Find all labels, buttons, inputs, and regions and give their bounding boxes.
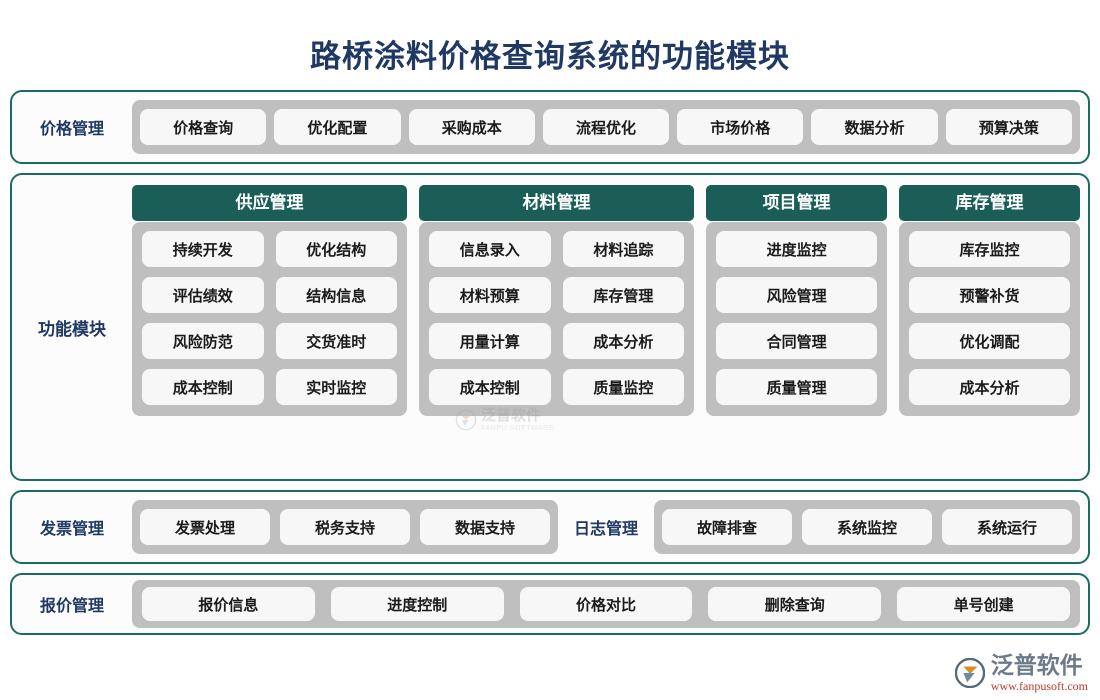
module-chip-c1-1[interactable]: 持续开发: [142, 231, 264, 267]
quote-chip-3[interactable]: 价格对比: [520, 587, 693, 621]
price-chip-2[interactable]: 优化配置: [274, 109, 400, 145]
module-chip-c3-4[interactable]: 质量管理: [716, 369, 877, 405]
module-column-body-3: 进度监控风险管理合同管理质量管理: [706, 222, 887, 416]
module-chip-c2-1[interactable]: 信息录入: [429, 231, 551, 267]
module-chip-c2-7[interactable]: 成本控制: [429, 369, 551, 405]
price-management-label: 价格管理: [12, 115, 132, 139]
module-column-header-1[interactable]: 供应管理: [132, 185, 407, 221]
log-chip-3[interactable]: 系统运行: [942, 509, 1072, 545]
module-column-2: 材料管理信息录入材料追踪材料预算库存管理用量计算成本分析成本控制质量监控: [419, 185, 694, 416]
price-chip-5[interactable]: 市场价格: [677, 109, 803, 145]
corner-watermark-url: www.fanpusoft.com: [991, 680, 1088, 692]
module-column-4: 库存管理库存监控预警补货优化调配成本分析: [899, 185, 1080, 416]
module-chip-c1-2[interactable]: 优化结构: [276, 231, 398, 267]
corner-watermark-brand: 泛普软件: [991, 654, 1088, 677]
module-chip-c4-1[interactable]: 库存监控: [909, 231, 1070, 267]
page-title: 路桥涂料价格查询系统的功能模块: [10, 0, 1090, 90]
module-chip-c4-3[interactable]: 优化调配: [909, 323, 1070, 359]
module-column-1: 供应管理持续开发优化结构评估绩效结构信息风险防范交货准时成本控制实时监控: [132, 185, 407, 416]
module-chip-c2-2[interactable]: 材料追踪: [563, 231, 685, 267]
fanpu-logo-corner-icon: [955, 658, 985, 688]
log-management-label: 日志管理: [558, 515, 654, 539]
module-chip-c2-5[interactable]: 用量计算: [429, 323, 551, 359]
module-chip-c1-6[interactable]: 交货准时: [276, 323, 398, 359]
module-column-header-2[interactable]: 材料管理: [419, 185, 694, 221]
module-chip-c2-6[interactable]: 成本分析: [563, 323, 685, 359]
quote-chip-5[interactable]: 单号创建: [897, 587, 1070, 621]
invoice-tray: 发票处理税务支持数据支持: [132, 500, 558, 554]
price-management-band: 价格管理 价格查询优化配置采购成本流程优化市场价格数据分析预算决策: [10, 90, 1090, 164]
log-chip-2[interactable]: 系统监控: [802, 509, 932, 545]
price-chip-1[interactable]: 价格查询: [140, 109, 266, 145]
module-chip-c3-2[interactable]: 风险管理: [716, 277, 877, 313]
price-management-tray: 价格查询优化配置采购成本流程优化市场价格数据分析预算决策: [132, 100, 1080, 154]
price-chip-3[interactable]: 采购成本: [409, 109, 535, 145]
module-column-body-1: 持续开发优化结构评估绩效结构信息风险防范交货准时成本控制实时监控: [132, 222, 407, 416]
module-columns: 供应管理持续开发优化结构评估绩效结构信息风险防范交货准时成本控制实时监控材料管理…: [132, 185, 1080, 469]
corner-watermark: 泛普软件 www.fanpusoft.com: [955, 654, 1088, 692]
quote-chip-1[interactable]: 报价信息: [142, 587, 315, 621]
module-chip-c2-4[interactable]: 库存管理: [563, 277, 685, 313]
module-column-header-3[interactable]: 项目管理: [706, 185, 887, 221]
invoice-log-band: 发票管理 发票处理税务支持数据支持 日志管理 故障排查系统监控系统运行: [10, 490, 1090, 564]
invoice-chip-2[interactable]: 税务支持: [280, 509, 410, 545]
module-chip-c2-8[interactable]: 质量监控: [563, 369, 685, 405]
price-chip-7[interactable]: 预算决策: [946, 109, 1072, 145]
quote-management-band: 报价管理 报价信息进度控制价格对比删除查询单号创建: [10, 573, 1090, 635]
invoice-chip-3[interactable]: 数据支持: [420, 509, 550, 545]
price-chip-6[interactable]: 数据分析: [811, 109, 937, 145]
invoice-management-label: 发票管理: [12, 515, 132, 539]
module-column-header-4[interactable]: 库存管理: [899, 185, 1080, 221]
module-chip-c1-5[interactable]: 风险防范: [142, 323, 264, 359]
function-module-label: 功能模块: [12, 315, 132, 340]
module-column-body-2: 信息录入材料追踪材料预算库存管理用量计算成本分析成本控制质量监控: [419, 222, 694, 416]
invoice-group: 发票处理税务支持数据支持: [132, 500, 558, 554]
module-chip-c1-3[interactable]: 评估绩效: [142, 277, 264, 313]
module-chip-c3-1[interactable]: 进度监控: [716, 231, 877, 267]
module-chip-c4-4[interactable]: 成本分析: [909, 369, 1070, 405]
module-chip-c1-4[interactable]: 结构信息: [276, 277, 398, 313]
diagram-page: 路桥涂料价格查询系统的功能模块 价格管理 价格查询优化配置采购成本流程优化市场价…: [0, 0, 1100, 700]
module-chip-c4-2[interactable]: 预警补货: [909, 277, 1070, 313]
quote-chip-2[interactable]: 进度控制: [331, 587, 504, 621]
module-column-body-4: 库存监控预警补货优化调配成本分析: [899, 222, 1080, 416]
quote-chip-4[interactable]: 删除查询: [708, 587, 881, 621]
module-column-3: 项目管理进度监控风险管理合同管理质量管理: [706, 185, 887, 416]
function-module-band: 功能模块 供应管理持续开发优化结构评估绩效结构信息风险防范交货准时成本控制实时监…: [10, 173, 1090, 481]
log-group: 故障排查系统监控系统运行: [654, 500, 1080, 554]
module-chip-c1-7[interactable]: 成本控制: [142, 369, 264, 405]
module-chip-c1-8[interactable]: 实时监控: [276, 369, 398, 405]
log-chip-1[interactable]: 故障排查: [662, 509, 792, 545]
quote-management-label: 报价管理: [12, 592, 132, 616]
module-chip-c2-3[interactable]: 材料预算: [429, 277, 551, 313]
module-chip-c3-3[interactable]: 合同管理: [716, 323, 877, 359]
log-tray: 故障排查系统监控系统运行: [654, 500, 1080, 554]
quote-management-tray: 报价信息进度控制价格对比删除查询单号创建: [132, 580, 1080, 628]
invoice-chip-1[interactable]: 发票处理: [140, 509, 270, 545]
price-chip-4[interactable]: 流程优化: [543, 109, 669, 145]
